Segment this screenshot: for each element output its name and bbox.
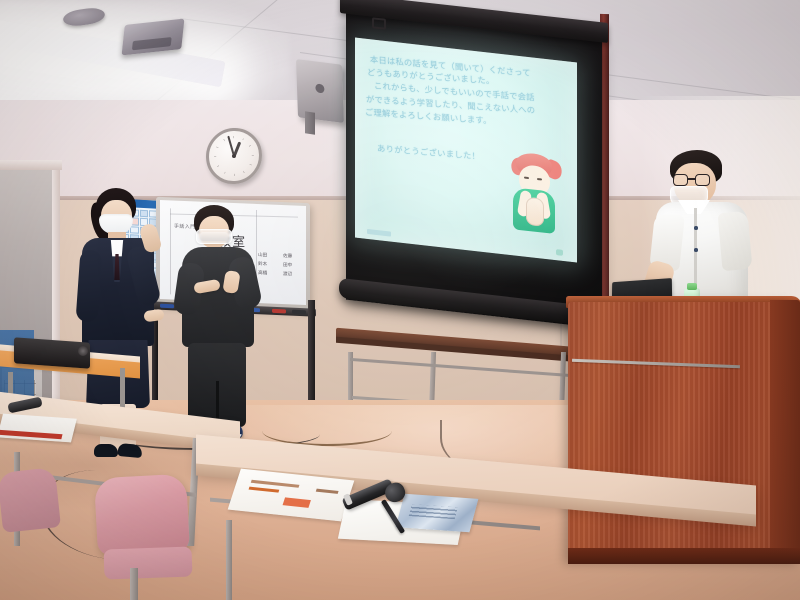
projected-slide: 本日は私の話を見て（聞いて）くださって どうもありがとうございました。 これから… bbox=[355, 38, 577, 263]
wood-grain-texture bbox=[568, 302, 800, 564]
pink-chair-seat bbox=[104, 546, 193, 579]
foil-packet-print bbox=[409, 504, 458, 519]
face-mask-white bbox=[99, 214, 133, 234]
screen-pull-hook-icon bbox=[372, 17, 386, 29]
whiteboard-name: 佐藤 bbox=[283, 253, 304, 260]
slide-content: 本日は私の話を見て（聞いて）くださって どうもありがとうございました。 これから… bbox=[355, 38, 577, 263]
whiteboard-name: 渡辺 bbox=[283, 271, 304, 278]
pink-chair-back bbox=[94, 474, 190, 557]
whiteboard-name-list: 山田 佐藤 鈴木 田中 高橋 渡辺 bbox=[258, 252, 304, 278]
paper-print-block bbox=[283, 497, 311, 507]
podium-base bbox=[568, 548, 800, 564]
slide-character-illustration bbox=[507, 151, 565, 242]
slide-footer-mark bbox=[367, 229, 391, 237]
handout-papers bbox=[0, 414, 77, 443]
right-sleeve bbox=[718, 211, 753, 271]
projector-lens-icon bbox=[78, 346, 88, 356]
eyeglasses-icon bbox=[673, 174, 713, 186]
podium-side-panel bbox=[770, 300, 800, 550]
slide-footer-mark bbox=[556, 249, 563, 256]
speaker-podium bbox=[568, 302, 800, 564]
room-photo: 手話入門 教室 山田 佐藤 鈴木 田中 高橋 渡辺 本日は私の話を見て（聞いて）… bbox=[0, 0, 800, 600]
whiteboard-guideline bbox=[170, 208, 171, 294]
bottle-cap bbox=[687, 283, 697, 290]
wall-speaker-bracket bbox=[305, 111, 315, 134]
table-leg bbox=[226, 520, 232, 600]
chair-leg bbox=[130, 568, 138, 600]
signing-hand bbox=[143, 309, 164, 323]
marker-red-icon bbox=[272, 309, 286, 313]
shoe bbox=[117, 443, 142, 458]
wall-speaker-icon bbox=[296, 59, 344, 123]
paper-print-line bbox=[249, 487, 280, 493]
foil-packet bbox=[396, 494, 479, 533]
shoe bbox=[94, 444, 118, 457]
whiteboard-name: 田中 bbox=[283, 262, 304, 269]
marker-black-icon bbox=[292, 310, 306, 314]
paper-print-line bbox=[316, 489, 339, 494]
shirt-button bbox=[694, 226, 698, 230]
door-header bbox=[0, 160, 62, 170]
shirt-button bbox=[694, 248, 698, 252]
door-frame bbox=[52, 160, 60, 418]
chair bbox=[0, 467, 61, 533]
mask-clear-panel bbox=[200, 232, 228, 241]
